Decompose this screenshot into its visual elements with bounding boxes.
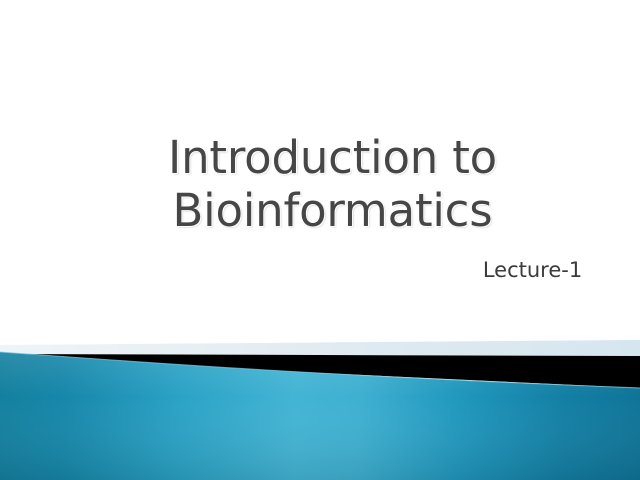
pale-band-shape <box>0 340 640 356</box>
title-placeholder: Introduction to Bioinformatics <box>60 131 605 237</box>
slide-subtitle: Lecture-1 <box>60 256 640 284</box>
bottom-wave-decoration <box>0 332 640 480</box>
page-title: Introduction to Bioinformatics <box>60 131 605 237</box>
wave-shape-icon <box>0 332 640 480</box>
subtitle-placeholder: Lecture-1 <box>60 256 640 284</box>
title-slide: Introduction to Bioinformatics Lecture-1 <box>0 0 640 480</box>
